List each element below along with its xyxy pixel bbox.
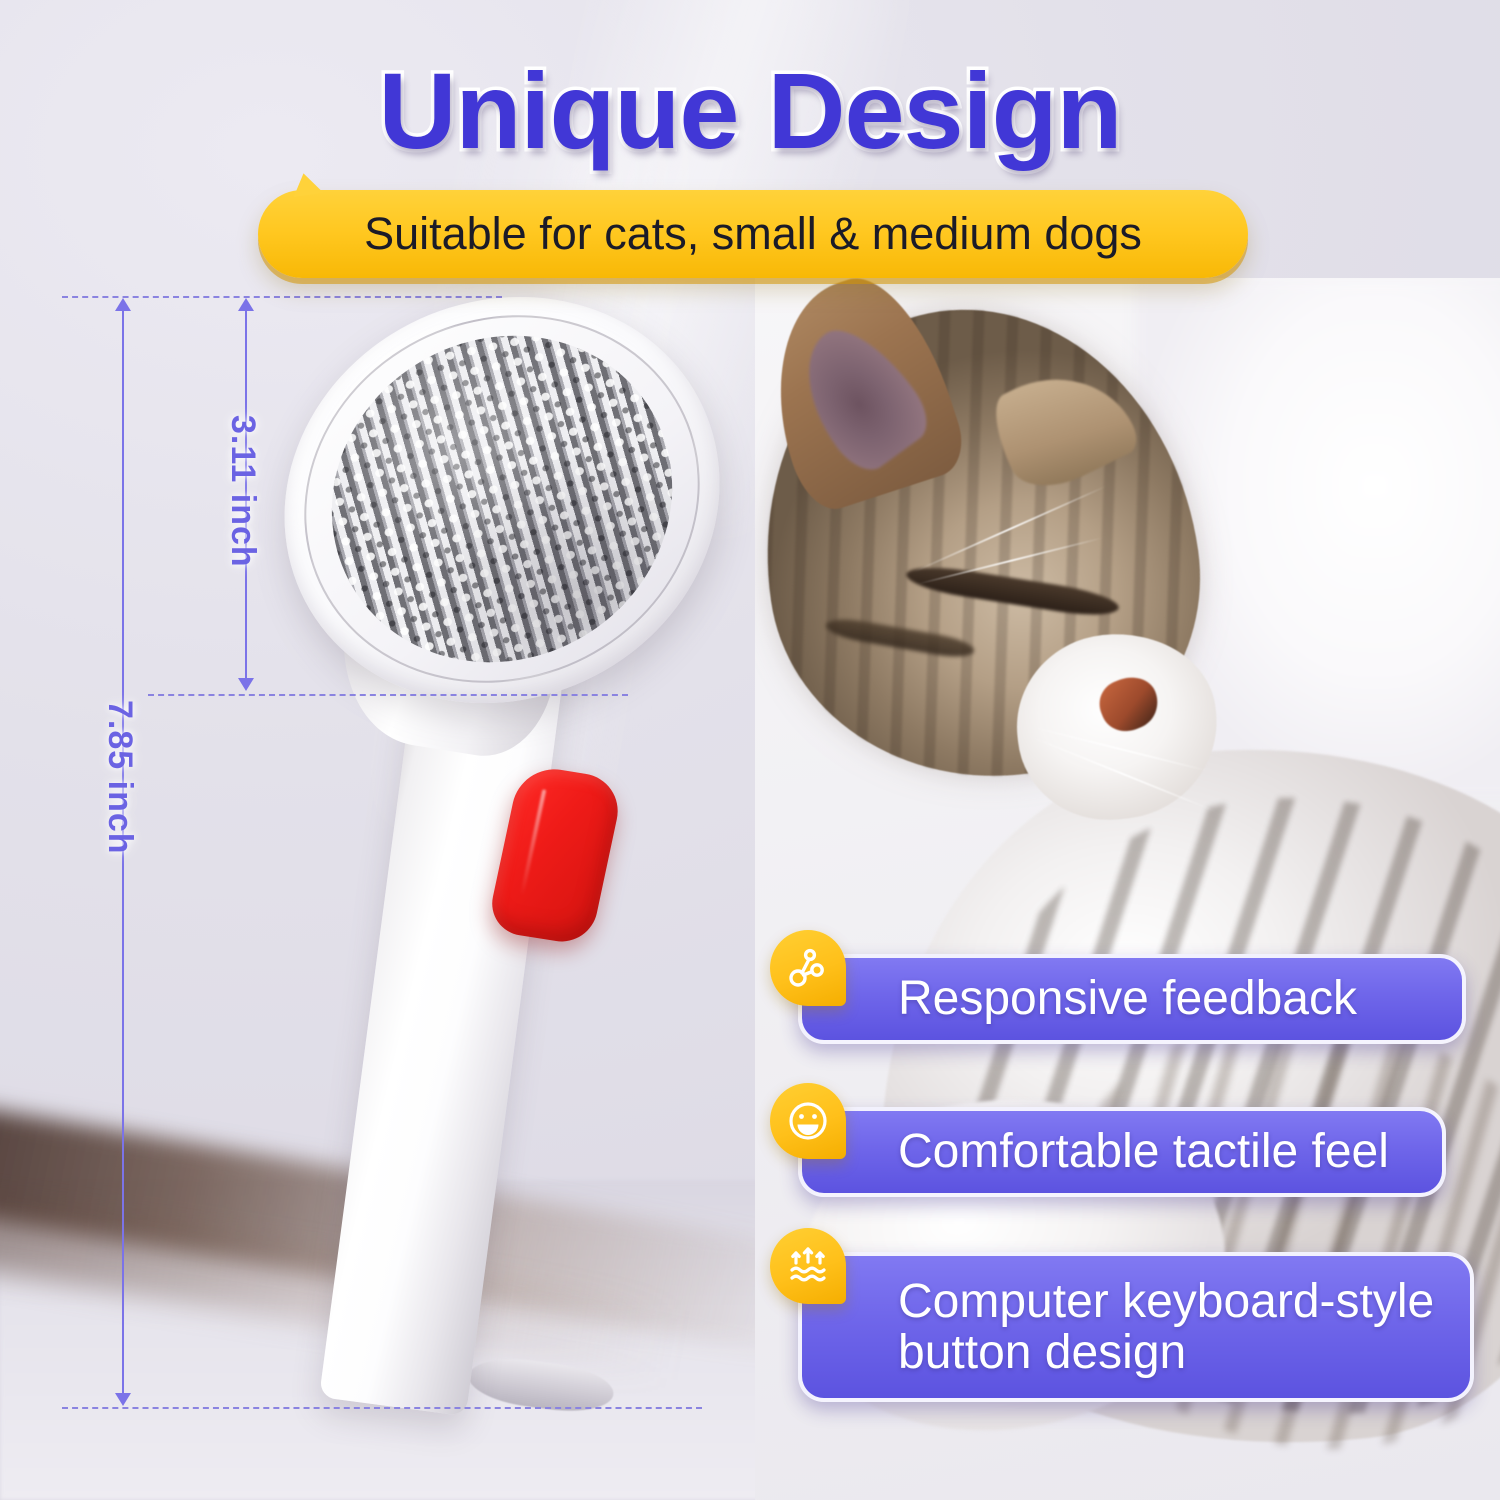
dimension-arrow-total-top (115, 298, 131, 311)
subtitle-banner: Suitable for cats, small & medium dogs (258, 190, 1248, 278)
grooming-brush (250, 290, 810, 1440)
share-nodes-icon (770, 930, 846, 1006)
page-title: Unique Design (0, 48, 1500, 173)
feature-callout-bar: Responsive feedback (798, 954, 1466, 1044)
speech-bubble-tail-icon (291, 171, 324, 197)
smiley-face-icon (770, 1083, 846, 1159)
arrows-up-waves-icon (770, 1228, 846, 1304)
feature-callout-responsive-feedback[interactable]: Responsive feedback (770, 930, 1470, 1040)
dimension-guide-middle (148, 694, 628, 696)
feature-callout-bar: Computer keyboard-style button design (798, 1252, 1474, 1402)
dimension-guide-bottom (62, 1407, 702, 1409)
feature-callout-label: Responsive feedback (802, 973, 1381, 1024)
feature-callout-keyboard-style-button[interactable]: Computer keyboard-style button design (770, 1228, 1470, 1403)
dimension-arrow-head-bottom (238, 678, 254, 691)
feature-callout-label: Computer keyboard-style button design (802, 1276, 1458, 1379)
dimension-arrow-total-bottom (115, 1393, 131, 1406)
feature-callout-comfortable-tactile-feel[interactable]: Comfortable tactile feel (770, 1083, 1470, 1193)
feature-callout-label: Comfortable tactile feel (802, 1126, 1413, 1177)
feature-callout-bar: Comfortable tactile feel (798, 1107, 1446, 1197)
dimension-label-head: 3.11 inch (223, 415, 262, 568)
dimension-arrow-head-top (238, 298, 254, 311)
dimension-label-total: 7.85 inch (100, 700, 139, 855)
subtitle-banner-text: Suitable for cats, small & medium dogs (364, 208, 1142, 260)
